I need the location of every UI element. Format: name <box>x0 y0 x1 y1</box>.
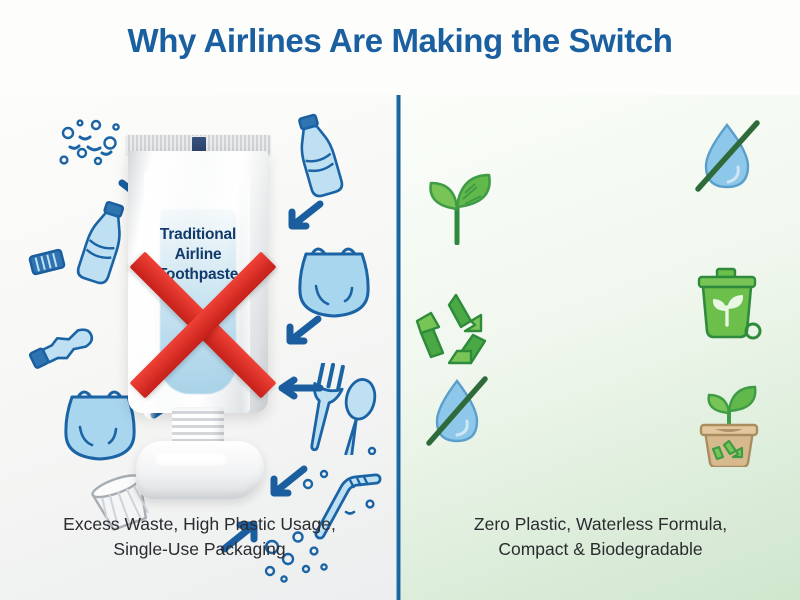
traditional-toothpaste-panel: Traditional Airline Toothpaste Excess Wa… <box>0 95 399 600</box>
recycle-arrows-icon <box>415 291 497 369</box>
bottle-cap-icon <box>26 245 68 279</box>
arrow-icon <box>262 463 312 505</box>
no-water-droplet-icon <box>691 117 765 203</box>
panel-divider <box>396 95 401 600</box>
arrow-icon <box>280 198 328 236</box>
potted-plant-recycle-icon <box>689 383 769 467</box>
no-water-droplet-icon <box>423 373 493 457</box>
extruded-paste <box>136 441 264 499</box>
leaf-sprout-icon <box>419 173 495 245</box>
page-title: Why Airlines Are Making the Switch <box>0 22 800 60</box>
left-caption: Excess Waste, High Plastic Usage, Single… <box>0 512 399 562</box>
plastic-bag-icon <box>290 240 378 320</box>
right-caption: Zero Plastic, Waterless Formula, Compact… <box>401 512 800 562</box>
crushed-bottle-icon <box>28 313 114 379</box>
plastic-bottle-icon <box>288 113 350 201</box>
red-x-cross-icon <box>118 240 288 410</box>
toothpaste-tablets-panel: Toothpaste Tablets 2-Pack Zero Plastic, … <box>401 95 800 600</box>
right-caption-line: Compact & Biodegradable <box>401 537 800 562</box>
green-waste-bin-icon <box>689 267 769 343</box>
left-caption-line: Single-Use Packaging <box>0 537 399 562</box>
right-caption-line: Zero Plastic, Waterless Formula, <box>401 512 800 537</box>
left-caption-line: Excess Waste, High Plastic Usage, <box>0 512 399 537</box>
infographic-root: Why Airlines Are Making the Switch <box>0 0 800 600</box>
